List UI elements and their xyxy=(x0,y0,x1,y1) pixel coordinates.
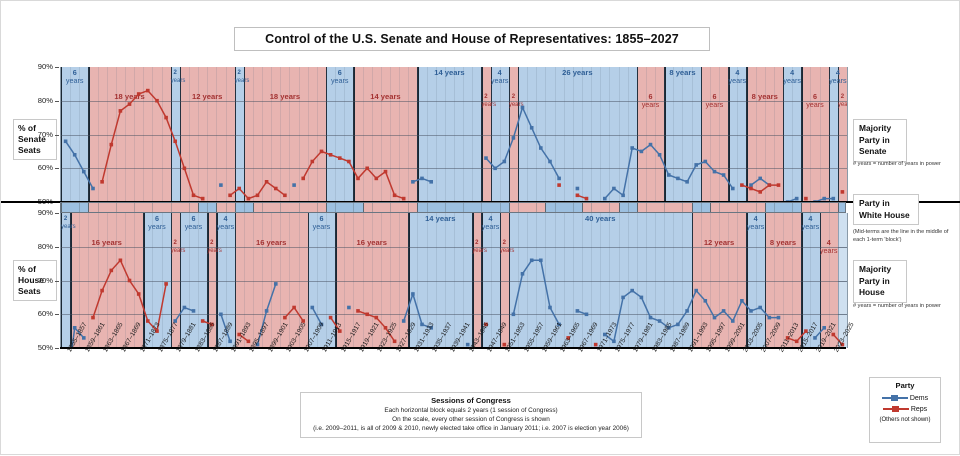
y-tick-mark xyxy=(55,247,59,248)
series-marker-reps xyxy=(256,194,260,198)
series-marker-reps xyxy=(740,183,744,187)
white-house-midterm-tick xyxy=(98,203,99,212)
series-marker-dems xyxy=(73,153,77,157)
series-marker-dems xyxy=(640,150,644,154)
series-marker-dems xyxy=(704,160,708,164)
white-house-segment xyxy=(838,203,846,212)
white-house-divider xyxy=(363,203,364,212)
series-marker-dems xyxy=(219,313,223,317)
series-marker-reps xyxy=(137,92,141,96)
series-line-reps xyxy=(102,91,203,199)
series-marker-reps xyxy=(557,183,561,187)
white-house-midterm-tick xyxy=(262,203,263,212)
series-marker-reps xyxy=(265,180,269,184)
series-marker-dems xyxy=(603,197,607,201)
series-marker-reps xyxy=(201,319,205,323)
series-marker-dems xyxy=(731,187,735,191)
white-house-divider xyxy=(765,203,766,212)
white-house-midterm-tick xyxy=(591,203,592,212)
white-house-divider xyxy=(417,203,418,212)
white-house-midterm-tick xyxy=(555,203,556,212)
series-marker-reps xyxy=(128,102,132,106)
series-marker-dems xyxy=(420,323,424,327)
series-marker-dems xyxy=(228,340,232,344)
sessions-line-2: On the scale, every other session of Con… xyxy=(301,415,641,424)
series-marker-dems xyxy=(768,316,772,320)
legend-item-reps[interactable]: Reps xyxy=(870,405,940,413)
series-marker-dems xyxy=(713,170,717,174)
series-marker-reps xyxy=(164,282,168,286)
white-house-midterm-tick xyxy=(701,203,702,212)
white-house-divider xyxy=(710,203,711,212)
series-marker-dems xyxy=(749,309,753,313)
series-line-dems xyxy=(513,260,559,324)
white-house-midterm-tick xyxy=(719,203,720,212)
white-house-divider xyxy=(509,203,510,212)
series-marker-reps xyxy=(128,279,132,283)
series-marker-dems xyxy=(530,126,534,130)
legend: Party Dems Reps (Others not shown) xyxy=(869,377,941,443)
series-marker-dems xyxy=(713,316,717,320)
series-marker-reps xyxy=(365,313,369,317)
series-marker-dems xyxy=(347,306,351,310)
series-marker-reps xyxy=(146,89,150,93)
series-marker-reps xyxy=(384,170,388,174)
white-house-divider xyxy=(235,203,236,212)
white-house-divider xyxy=(326,203,327,212)
series-marker-reps xyxy=(356,177,360,181)
white-house-midterm-tick xyxy=(134,203,135,212)
series-marker-dems xyxy=(758,177,762,181)
white-house-midterm-tick xyxy=(609,203,610,212)
series-marker-reps xyxy=(173,140,177,144)
series-marker-dems xyxy=(777,316,781,320)
series-marker-reps xyxy=(393,194,397,198)
white-house-midterm-tick xyxy=(171,203,172,212)
series-line-dems xyxy=(404,294,432,328)
series-marker-dems xyxy=(722,309,726,313)
series-marker-dems xyxy=(484,156,488,160)
white-house-segment xyxy=(582,203,619,212)
side-note-house: # years = number of years in power xyxy=(853,303,957,311)
side-note-white-house: (Mid-terms are the line in the middle of… xyxy=(853,229,957,244)
sessions-line-3: (i.e. 2009–2011, is all of 2009 & 2010, … xyxy=(301,424,641,433)
y-tick-label: 60% xyxy=(23,309,53,318)
series-marker-reps xyxy=(768,183,772,187)
series-marker-dems xyxy=(585,313,589,317)
white-house-midterm-tick xyxy=(372,203,373,212)
series-marker-dems xyxy=(612,340,616,344)
series-marker-reps xyxy=(292,306,296,310)
series-marker-dems xyxy=(749,183,753,187)
series-marker-dems xyxy=(813,336,817,340)
series-marker-reps xyxy=(338,156,342,160)
series-marker-dems xyxy=(740,299,744,303)
white-house-segment xyxy=(765,203,802,212)
y-tick-mark xyxy=(55,281,59,282)
series-marker-reps xyxy=(375,316,379,320)
white-house-midterm-tick xyxy=(682,203,683,212)
series-marker-dems xyxy=(630,289,634,293)
series-marker-dems xyxy=(91,187,95,191)
white-house-midterm-tick xyxy=(317,203,318,212)
series-marker-dems xyxy=(539,146,543,150)
white-house-divider xyxy=(216,203,217,212)
white-house-divider xyxy=(582,203,583,212)
white-house-midterm-tick xyxy=(481,203,482,212)
series-marker-reps xyxy=(183,167,187,171)
side-box-white-house: Party in White House xyxy=(853,194,919,225)
series-marker-dems xyxy=(621,194,625,198)
series-marker-dems xyxy=(192,309,196,313)
series-marker-dems xyxy=(676,177,680,181)
series-line-reps xyxy=(303,151,404,198)
series-marker-dems xyxy=(576,187,580,191)
series-marker-reps xyxy=(347,160,351,164)
series-marker-dems xyxy=(694,163,698,167)
series-marker-reps xyxy=(576,194,580,198)
series-marker-reps xyxy=(228,194,232,198)
series-marker-dems xyxy=(548,160,552,164)
series-marker-dems xyxy=(832,197,836,201)
series-marker-reps xyxy=(100,180,104,184)
series-marker-dems xyxy=(548,306,552,310)
white-house-divider xyxy=(692,203,693,212)
series-marker-reps xyxy=(274,187,278,191)
white-house-control-strip xyxy=(60,202,846,213)
y-tick-label: 70% xyxy=(23,276,53,285)
series-marker-reps xyxy=(329,153,333,157)
white-house-segment xyxy=(545,203,582,212)
white-house-midterm-tick xyxy=(116,203,117,212)
white-house-midterm-tick xyxy=(463,203,464,212)
series-marker-dems xyxy=(402,319,406,323)
series-marker-reps xyxy=(804,197,808,201)
white-house-midterm-tick xyxy=(189,203,190,212)
white-house-midterm-tick xyxy=(774,203,775,212)
y-tick-mark xyxy=(55,213,59,214)
series-line-dems xyxy=(486,108,559,179)
white-house-midterm-tick xyxy=(646,203,647,212)
white-house-midterm-tick xyxy=(280,203,281,212)
senate-plot-area: 6years18 years2years12 years2years18 yea… xyxy=(60,67,848,202)
series-marker-reps xyxy=(192,194,196,198)
series-marker-dems xyxy=(82,170,86,174)
series-marker-dems xyxy=(694,289,698,293)
series-marker-dems xyxy=(265,309,269,313)
white-house-midterm-tick xyxy=(445,203,446,212)
white-house-divider xyxy=(637,203,638,212)
white-house-midterm-tick xyxy=(226,203,227,212)
white-house-midterm-tick xyxy=(536,203,537,212)
white-house-midterm-tick xyxy=(244,203,245,212)
series-marker-reps xyxy=(164,116,168,120)
series-marker-dems xyxy=(822,197,826,201)
series-marker-reps xyxy=(311,160,315,164)
series-marker-reps xyxy=(758,190,762,194)
series-marker-dems xyxy=(274,282,278,286)
series-marker-dems xyxy=(612,187,616,191)
series-line-dems xyxy=(66,141,93,188)
white-house-segment xyxy=(61,203,88,212)
legend-footnote: (Others not shown) xyxy=(870,417,940,424)
side-box-majority-house: Majority Party in House xyxy=(853,260,907,303)
series-marker-dems xyxy=(649,316,653,320)
series-marker-reps xyxy=(155,99,159,103)
white-house-segment xyxy=(253,203,326,212)
series-marker-reps xyxy=(841,190,845,194)
series-marker-reps xyxy=(777,183,781,187)
white-house-segment xyxy=(326,203,363,212)
series-marker-dems xyxy=(667,173,671,177)
series-marker-dems xyxy=(311,306,315,310)
white-house-segment xyxy=(88,203,198,212)
white-house-midterm-tick xyxy=(829,203,830,212)
white-house-midterm-tick xyxy=(792,203,793,212)
series-marker-reps xyxy=(237,187,241,191)
white-house-midterm-tick xyxy=(500,203,501,212)
dem-line-swatch-icon xyxy=(882,394,908,402)
series-marker-dems xyxy=(676,323,680,327)
white-house-midterm-tick xyxy=(573,203,574,212)
series-marker-dems xyxy=(758,306,762,310)
sessions-line-1: Each horizontal block equals 2 years (1 … xyxy=(301,406,641,415)
white-house-divider xyxy=(838,203,839,212)
white-house-divider xyxy=(253,203,254,212)
side-box-majority-senate: Majority Party in Senate xyxy=(853,119,907,162)
x-axis-labels: 1855–18571859–18611863–18651867–18691871… xyxy=(60,350,846,398)
series-marker-dems xyxy=(82,336,86,340)
white-house-divider xyxy=(619,203,620,212)
white-house-segment xyxy=(509,203,546,212)
series-marker-reps xyxy=(110,143,114,147)
y-tick-label: 90% xyxy=(23,208,53,217)
series-marker-reps xyxy=(100,289,104,293)
series-marker-dems xyxy=(658,153,662,157)
series-marker-reps xyxy=(320,150,324,154)
series-marker-dems xyxy=(493,167,497,171)
y-tick-label: 50% xyxy=(23,343,53,352)
series-marker-reps xyxy=(393,340,397,344)
series-marker-dems xyxy=(621,296,625,300)
series-marker-dems xyxy=(557,177,561,181)
white-house-midterm-tick xyxy=(427,203,428,212)
series-marker-reps xyxy=(585,197,589,201)
y-tick-mark xyxy=(55,314,59,315)
series-marker-reps xyxy=(301,177,305,181)
series-marker-reps xyxy=(749,187,753,191)
series-marker-dems xyxy=(704,299,708,303)
sessions-heading: Sessions of Congress xyxy=(301,396,641,406)
series-line-reps xyxy=(285,308,303,322)
series-layer xyxy=(61,213,847,348)
y-tick-label: 80% xyxy=(23,242,53,251)
series-marker-dems xyxy=(73,326,77,330)
series-marker-dems xyxy=(512,313,516,317)
series-marker-reps xyxy=(119,109,123,113)
series-marker-dems xyxy=(521,106,525,110)
white-house-midterm-tick xyxy=(353,203,354,212)
series-marker-dems xyxy=(219,183,223,187)
series-marker-reps xyxy=(402,197,406,201)
series-marker-dems xyxy=(822,326,826,330)
series-marker-reps xyxy=(247,340,251,344)
series-marker-dems xyxy=(530,259,534,263)
white-house-midterm-tick xyxy=(737,203,738,212)
chart-frame: Control of the U.S. Senate and House of … xyxy=(0,0,960,455)
series-marker-dems xyxy=(429,180,433,184)
series-marker-reps xyxy=(137,292,141,296)
series-marker-dems xyxy=(640,296,644,300)
series-marker-dems xyxy=(649,143,653,147)
series-marker-reps xyxy=(91,316,95,320)
series-marker-reps xyxy=(283,194,287,198)
series-marker-dems xyxy=(411,292,415,296)
house-plot-area: 2years16 years6years2years6years2years4y… xyxy=(60,213,848,348)
legend-item-dems[interactable]: Dems xyxy=(870,394,940,402)
series-marker-reps xyxy=(146,319,150,323)
white-house-midterm-tick xyxy=(152,203,153,212)
white-house-midterm-tick xyxy=(810,203,811,212)
series-marker-dems xyxy=(512,136,516,140)
white-house-divider xyxy=(198,203,199,212)
series-marker-dems xyxy=(420,177,424,181)
series-marker-dems xyxy=(521,272,525,276)
series-marker-dems xyxy=(685,180,689,184)
legend-label-reps: Reps xyxy=(911,406,927,413)
white-house-midterm-tick xyxy=(628,203,629,212)
white-house-midterm-tick xyxy=(207,203,208,212)
series-marker-dems xyxy=(183,306,187,310)
series-line-dems xyxy=(175,308,193,322)
series-marker-dems xyxy=(731,319,735,323)
series-marker-reps xyxy=(247,197,251,201)
white-house-segment xyxy=(801,203,838,212)
series-marker-dems xyxy=(795,197,799,201)
white-house-midterm-tick xyxy=(79,203,80,212)
sessions-caption: Sessions of Congress Each horizontal blo… xyxy=(300,392,642,438)
white-house-divider xyxy=(801,203,802,212)
series-marker-dems xyxy=(576,309,580,313)
series-marker-reps xyxy=(365,167,369,171)
series-marker-reps xyxy=(119,259,123,263)
white-house-midterm-tick xyxy=(299,203,300,212)
white-house-midterm-tick xyxy=(61,203,62,212)
side-note-senate: # years = number of years in power xyxy=(853,161,957,169)
series-marker-dems xyxy=(685,309,689,313)
series-marker-reps xyxy=(201,197,205,201)
white-house-midterm-tick xyxy=(518,203,519,212)
series-marker-reps xyxy=(329,316,333,320)
legend-label-dems: Dems xyxy=(910,395,928,402)
y-tick-mark xyxy=(55,348,59,349)
series-marker-reps xyxy=(110,269,114,273)
series-marker-dems xyxy=(658,319,662,323)
series-marker-reps xyxy=(795,340,799,344)
white-house-divider xyxy=(545,203,546,212)
white-house-divider xyxy=(88,203,89,212)
series-marker-reps xyxy=(375,177,379,181)
series-marker-dems xyxy=(64,140,68,144)
rep-line-swatch-icon xyxy=(883,405,909,413)
legend-title: Party xyxy=(870,381,940,391)
white-house-midterm-tick xyxy=(408,203,409,212)
series-marker-dems xyxy=(722,173,726,177)
series-marker-dems xyxy=(539,259,543,263)
series-layer xyxy=(61,67,847,202)
series-marker-dems xyxy=(411,180,415,184)
white-house-midterm-tick xyxy=(664,203,665,212)
series-marker-reps xyxy=(356,309,360,313)
series-marker-dems xyxy=(630,146,634,150)
white-house-midterm-tick xyxy=(756,203,757,212)
white-house-midterm-tick xyxy=(335,203,336,212)
series-marker-dems xyxy=(292,183,296,187)
series-marker-reps xyxy=(283,316,287,320)
white-house-midterm-tick xyxy=(390,203,391,212)
series-marker-dems xyxy=(503,160,507,164)
